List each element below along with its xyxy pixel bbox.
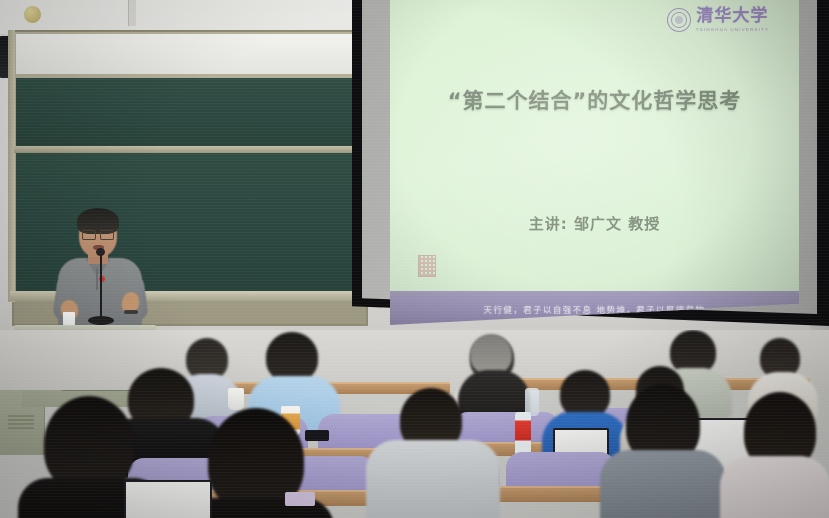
wall-pipe	[128, 0, 136, 26]
microphone-base	[88, 316, 114, 325]
laptop-screen	[126, 482, 210, 518]
slide-vignette	[390, 0, 799, 325]
smartphone	[305, 430, 329, 441]
paper-cup	[228, 388, 244, 410]
chalkboard-whiteband	[16, 34, 360, 74]
chalkboard-mid-rail	[14, 146, 362, 153]
speaker-shirt-placket	[96, 268, 98, 290]
microphone-stand	[100, 255, 102, 325]
projected-slide: 清华大学 TSINGHUA UNIVERSITY “第二个结合”的文化哲学思考 …	[390, 0, 799, 325]
chalkboard-edge-left	[8, 30, 15, 302]
laptop	[124, 480, 212, 518]
audience-area	[0, 330, 829, 518]
microphone-head-icon	[96, 248, 105, 256]
wristwatch-icon	[124, 310, 138, 314]
wall-knob	[24, 6, 41, 23]
chalkboard-panel-upper	[16, 78, 360, 146]
lecture-hall-photo: 清华大学 TSINGHUA UNIVERSITY “第二个结合”的文化哲学思考 …	[0, 0, 829, 518]
glasses-icon	[82, 230, 114, 238]
smartphone	[285, 492, 315, 506]
